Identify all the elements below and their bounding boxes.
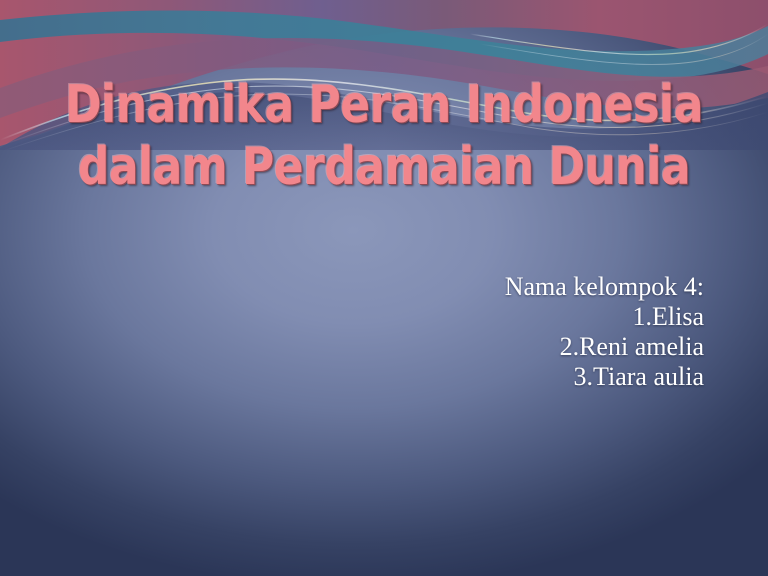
title-line-2: dalam Perdamaian Dunia bbox=[23, 136, 745, 198]
page-title: Dinamika Peran Indonesia dalam Perdamaia… bbox=[0, 74, 768, 198]
group-heading: Nama kelompok 4: bbox=[284, 272, 704, 302]
title-slide: Dinamika Peran Indonesia dalam Perdamaia… bbox=[0, 0, 768, 576]
subtitle-block: Nama kelompok 4: 1.Elisa 2.Reni amelia 3… bbox=[284, 272, 704, 392]
shine-line-top-right bbox=[470, 24, 768, 55]
member-item-2: 2.Reni amelia bbox=[284, 332, 704, 362]
ribbon-teal bbox=[0, 11, 768, 81]
member-item-3: 3.Tiara aulia bbox=[284, 362, 704, 392]
title-line-1: Dinamika Peran Indonesia bbox=[23, 74, 745, 136]
member-item-1: 1.Elisa bbox=[284, 302, 704, 332]
shine-line-top-right-2 bbox=[480, 34, 768, 65]
